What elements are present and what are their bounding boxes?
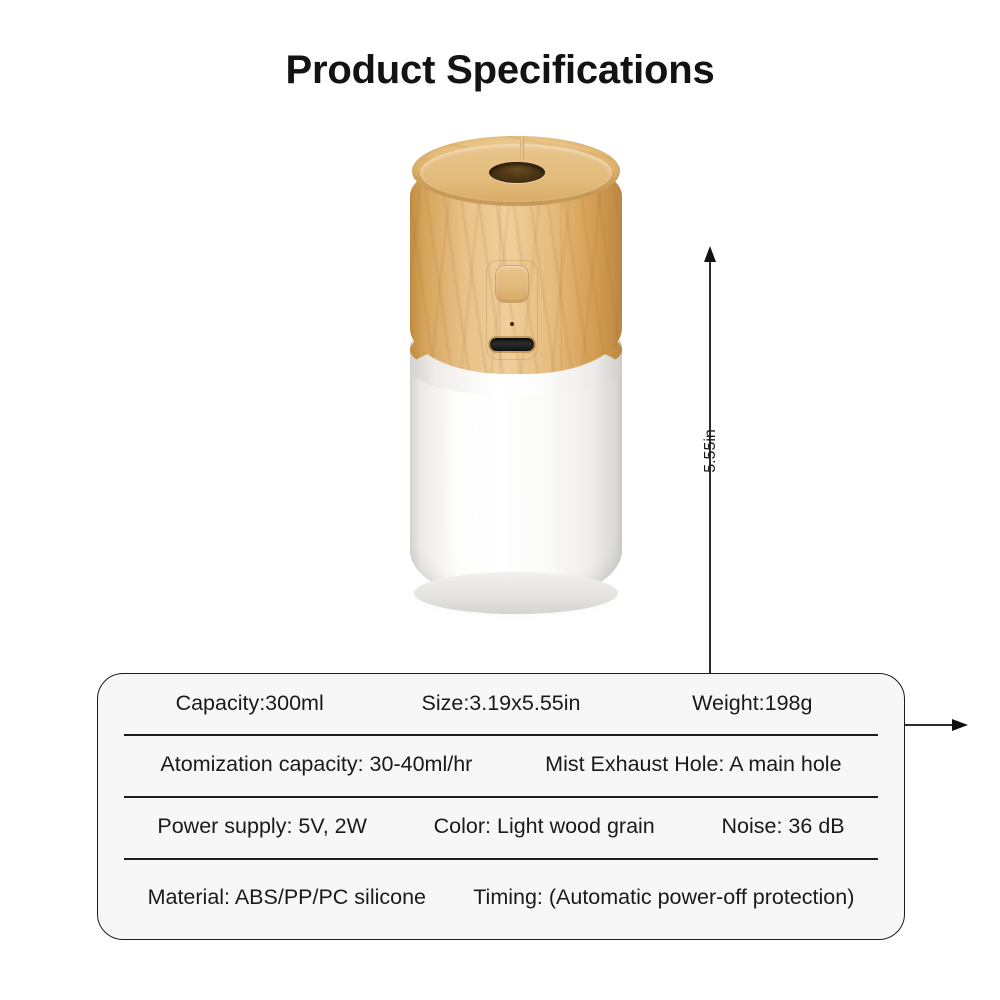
usb-c-port-icon xyxy=(490,338,534,351)
mist-spout xyxy=(520,136,524,162)
spec-weight: Weight:198g xyxy=(627,690,878,718)
product-illustration: 5.55in 3.19in xyxy=(330,120,670,640)
spec-atomization-capacity: Atomization capacity: 30-40ml/hr xyxy=(156,751,476,779)
table-row: Power supply: 5V, 2W Color: Light wood g… xyxy=(98,796,904,858)
spec-timing: Timing: (Automatic power-off protection) xyxy=(467,884,860,912)
spec-mist-exhaust-hole: Mist Exhaust Hole: A main hole xyxy=(541,751,845,779)
table-row: Material: ABS/PP/PC silicone Timing: (Au… xyxy=(98,858,904,938)
spec-power-supply: Power supply: 5V, 2W xyxy=(155,813,369,841)
spec-material: Material: ABS/PP/PC silicone xyxy=(142,884,432,912)
spec-size: Size:3.19x5.55in xyxy=(375,690,626,718)
table-row: Capacity:300ml Size:3.19x5.55in Weight:1… xyxy=(98,674,904,734)
mist-exhaust-hole-icon xyxy=(489,162,545,183)
led-indicator-icon xyxy=(510,322,514,326)
page-title: Product Specifications xyxy=(0,48,1000,93)
tank-highlight xyxy=(444,372,492,572)
humidifier-device xyxy=(410,136,622,602)
spec-noise: Noise: 36 dB xyxy=(720,813,847,841)
tank-bottom xyxy=(414,572,618,614)
height-dimension: 5.55in xyxy=(685,246,735,722)
spec-color: Color: Light wood grain xyxy=(432,813,657,841)
height-label: 5.55in xyxy=(702,411,720,491)
specifications-table: Capacity:300ml Size:3.19x5.55in Weight:1… xyxy=(97,673,905,940)
power-button[interactable] xyxy=(496,266,528,302)
table-row: Atomization capacity: 30-40ml/hr Mist Ex… xyxy=(98,734,904,796)
product-spec-page: Product Specifications xyxy=(0,0,1000,1000)
spec-capacity: Capacity:300ml xyxy=(124,690,375,718)
